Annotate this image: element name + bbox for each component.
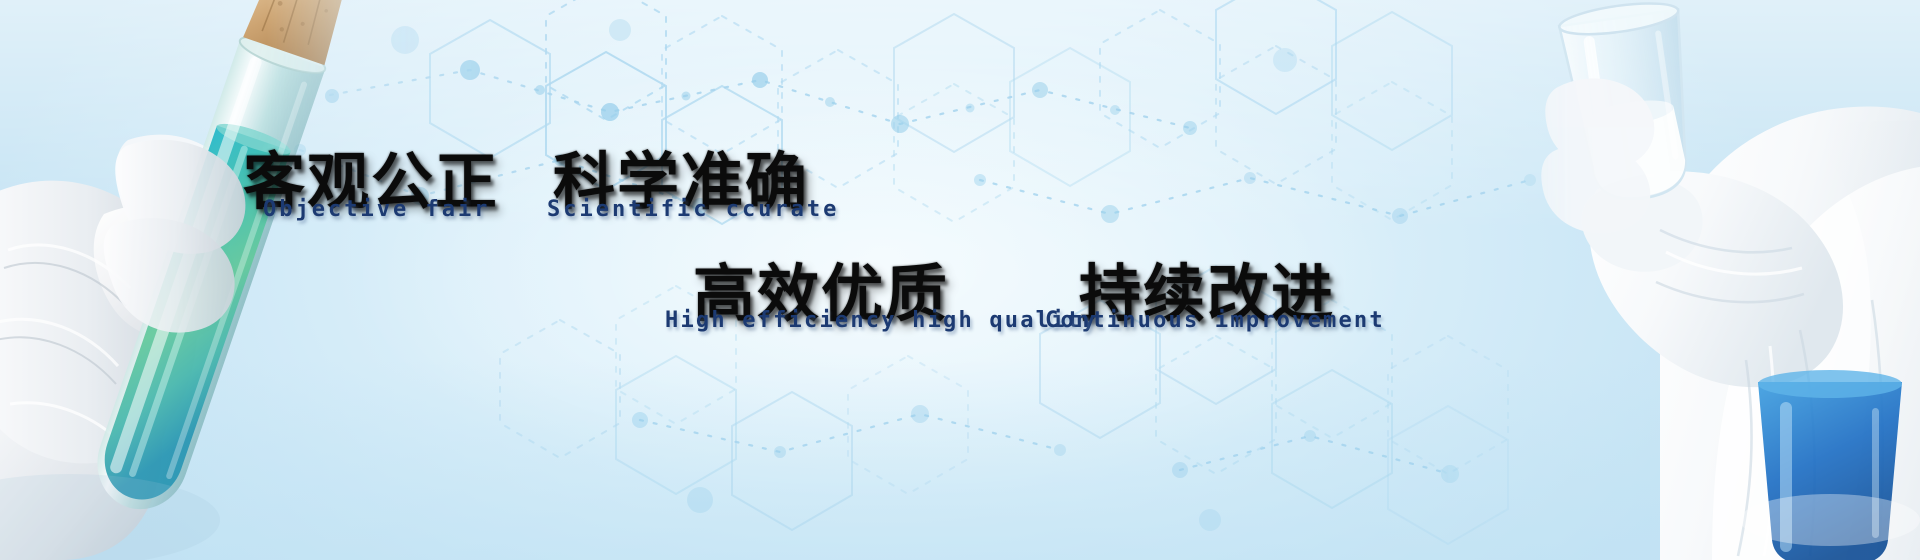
slogan-english-3: High efficiency high quality — [665, 308, 1097, 333]
scientist-lab-coat-with-beaker-photo — [1360, 0, 1920, 560]
slogan-english-1: Objective fair — [263, 197, 490, 222]
laboratory-slogan-banner: 客观公正 科学准确 Objective fair Scientific ccur… — [0, 0, 1920, 560]
slogan-english-4: Continuous improvement — [1045, 308, 1385, 333]
slogan-english-2: Scientific ccurate — [547, 197, 839, 222]
gloved-hand-with-test-tube-photo — [0, 0, 430, 560]
